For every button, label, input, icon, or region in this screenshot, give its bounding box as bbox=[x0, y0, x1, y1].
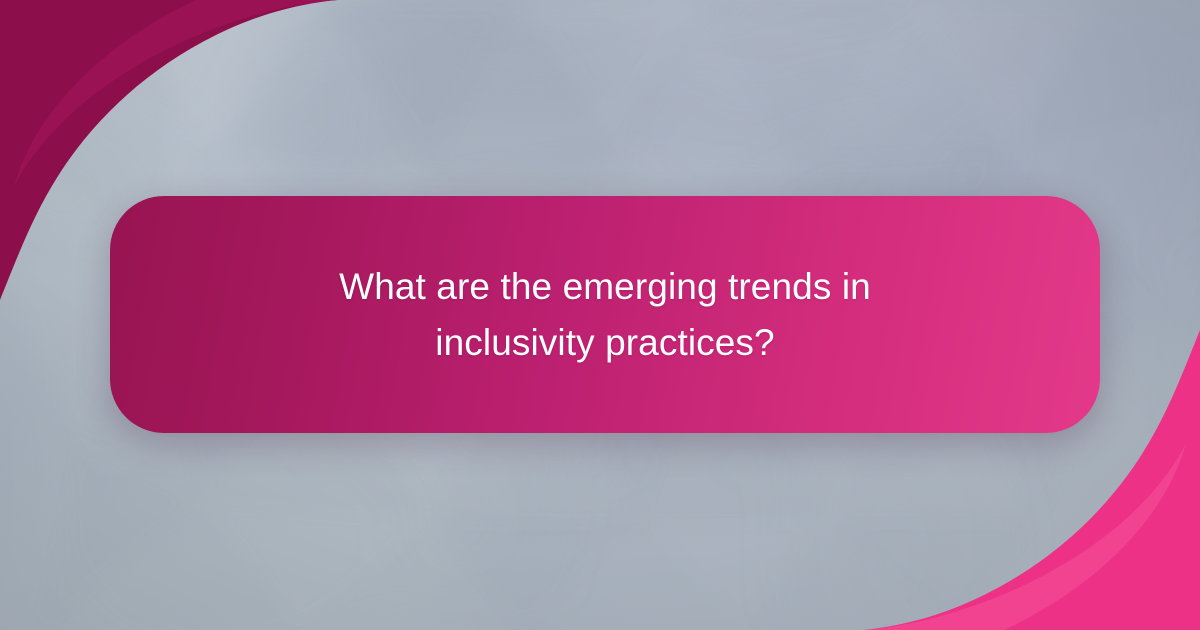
quote-card: What are the emerging trends in inclusiv… bbox=[110, 196, 1100, 433]
quote-card-canvas: What are the emerging trends in inclusiv… bbox=[0, 0, 1200, 630]
quote-text: What are the emerging trends in inclusiv… bbox=[295, 259, 915, 370]
